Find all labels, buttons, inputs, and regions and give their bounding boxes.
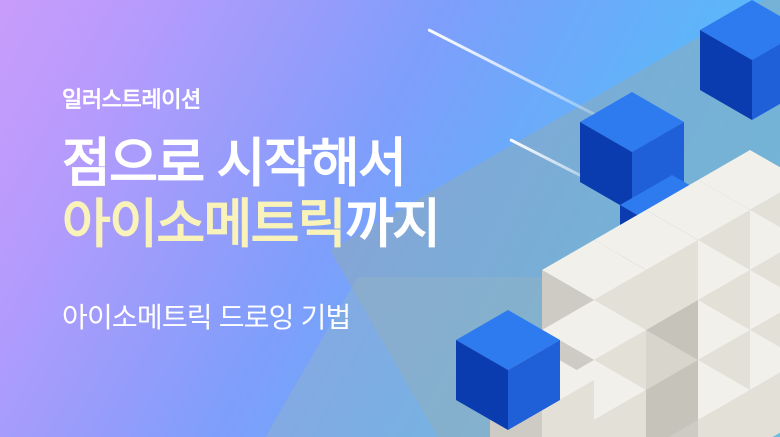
- cube-cream: [490, 350, 594, 437]
- cube-blue-upper: [580, 92, 684, 212]
- cube-cream: [698, 330, 780, 437]
- light-streak-icon: [489, 353, 606, 414]
- cube-blue-lower: [620, 175, 724, 295]
- light-streak-icon: [551, 362, 611, 394]
- cube-cream-shadowed: [594, 330, 698, 437]
- cube-cream: [698, 150, 780, 270]
- headline-suffix-text: 까지: [345, 195, 439, 254]
- banner-headline: 점으로 시작해서 아이소메트릭까지: [62, 134, 542, 255]
- banner-eyebrow: 일러스트레이션: [62, 88, 542, 112]
- cube-blue-topright: [700, 0, 780, 120]
- cube-cream: [646, 360, 750, 437]
- cube-cream: [542, 300, 646, 420]
- cube-cream: [698, 210, 780, 330]
- headline-line-1: 점으로 시작해서: [62, 134, 542, 194]
- cube-cream: [594, 210, 698, 330]
- cube-cream: [698, 270, 780, 390]
- banner-subtitle: 아이소메트릭 드로잉 기법: [62, 301, 542, 335]
- cube-cream: [646, 180, 750, 300]
- cube-cream-shadowed: [594, 270, 698, 390]
- headline-line-2: 아이소메트릭까지: [62, 195, 542, 255]
- cube-cream: [646, 300, 750, 420]
- cube-cream: [542, 360, 646, 437]
- headline-accent-text: 아이소메트릭: [62, 195, 345, 254]
- cube-cream: [646, 240, 750, 360]
- course-banner: 일러스트레이션 점으로 시작해서 아이소메트릭까지 아이소메트릭 드로잉 기법: [0, 0, 780, 437]
- banner-copy: 일러스트레이션 점으로 시작해서 아이소메트릭까지 아이소메트릭 드로잉 기법: [62, 88, 542, 335]
- cube-cream: [542, 240, 646, 360]
